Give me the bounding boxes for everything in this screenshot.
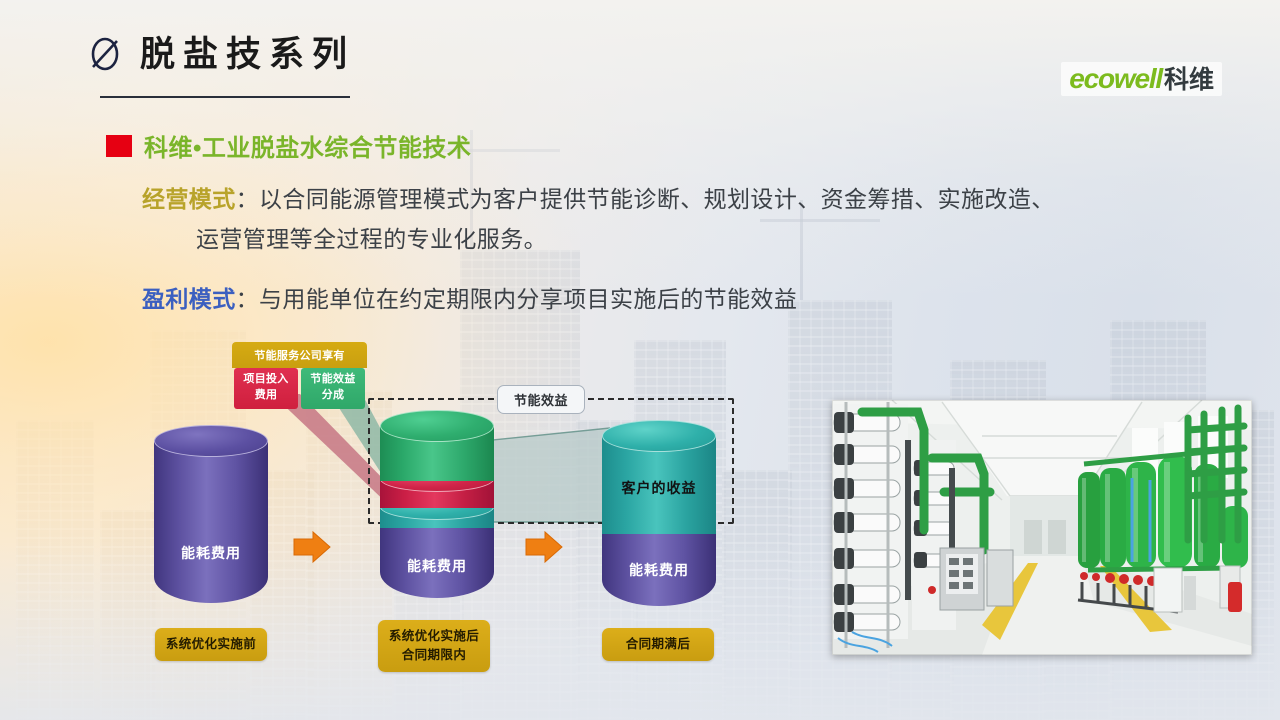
caption-after: 合同期满后 xyxy=(602,628,714,661)
cylinder-during: 能耗费用 xyxy=(380,410,494,618)
ecowell-logo: ecowell 科维 xyxy=(1061,62,1222,96)
arrow-right-icon-1 xyxy=(292,530,332,564)
legend-boxes: 项目投入 费用 节能效益 分成 xyxy=(232,368,367,411)
cylinder-after: 客户的收益 能耗费用 xyxy=(602,418,716,618)
paragraph-2-key: 盈利模式 xyxy=(142,286,236,312)
cylinder-during-label: 能耗费用 xyxy=(380,556,494,576)
red-square-bullet-icon xyxy=(106,135,132,157)
paragraph-1-key: 经营模式 xyxy=(142,186,236,212)
paragraph-2-line1: 与用能单位在约定期限内分享项目实施后的节能效益 xyxy=(259,286,797,312)
arrow-right-icon-2 xyxy=(524,530,564,564)
paragraph-1-colon: ： xyxy=(236,186,259,212)
plant-photo-illustration xyxy=(832,400,1252,655)
cylinder-after-top-label: 客户的收益 xyxy=(602,478,716,498)
paragraph-profit-model: 盈利模式：与用能单位在约定期限内分享项目实施后的节能效益 xyxy=(142,280,1232,320)
section-heading-label: 科维•工业脱盐水综合节能技术 xyxy=(144,128,471,163)
esco-savings-diagram: 节能服务公司享有 项目投入 费用 节能效益 分成 节能效益 能耗费用 xyxy=(0,330,830,690)
caption-during: 系统优化实施后 合同期限内 xyxy=(378,620,490,672)
paragraph-1-line1: 以合同能源管理模式为客户提供节能诊断、规划设计、资金筹措、实施改造、 xyxy=(259,186,1055,212)
cylinder-after-label: 能耗费用 xyxy=(602,560,716,580)
legend-box-savings-line1: 节能效益 xyxy=(301,372,365,388)
paragraph-2-colon: ： xyxy=(236,286,259,312)
legend-box-investment: 项目投入 费用 xyxy=(234,368,298,409)
legend-box-savings-line2: 分成 xyxy=(301,388,365,404)
caption-after-line1: 合同期满后 xyxy=(602,635,714,654)
caption-before-line1: 系统优化实施前 xyxy=(155,635,267,654)
paragraph-business-model: 经营模式：以合同能源管理模式为客户提供节能诊断、规划设计、资金筹措、实施改造、 … xyxy=(142,180,1232,259)
legend-box-investment-line1: 项目投入 xyxy=(234,372,298,388)
slide-root: 脱盐技系列 ecowell 科维 科维•工业脱盐水综合节能技术 经营模式：以合同… xyxy=(0,0,1280,720)
savings-chip-label: 节能效益 xyxy=(497,385,585,414)
caption-before: 系统优化实施前 xyxy=(155,628,267,661)
page-title: 脱盐技系列 xyxy=(140,37,355,72)
slide-header: 脱盐技系列 ecowell 科维 xyxy=(0,0,1280,120)
paragraph-1-line2: 运营管理等全过程的专业化服务。 xyxy=(196,220,1232,260)
cylinder-before: 能耗费用 xyxy=(154,425,268,618)
section-heading: 科维•工业脱盐水综合节能技术 xyxy=(106,128,471,163)
logo-chinese-text: 科维 xyxy=(1164,68,1214,93)
plant-photo xyxy=(832,400,1252,655)
legend-box-savings-share: 节能效益 分成 xyxy=(301,368,365,409)
logo-brand-text: ecowell xyxy=(1069,65,1162,93)
title-row: 脱盐技系列 xyxy=(88,34,355,74)
legend-header-label: 节能服务公司享有 xyxy=(232,342,367,368)
legend-box-investment-line2: 费用 xyxy=(234,388,298,404)
caption-during-line1: 系统优化实施后 xyxy=(378,627,490,646)
legend-esco-share: 节能服务公司享有 项目投入 费用 节能效益 分成 xyxy=(232,342,367,411)
diameter-symbol-icon xyxy=(88,34,122,74)
caption-during-line2: 合同期限内 xyxy=(378,646,490,665)
title-underline xyxy=(100,96,350,98)
cylinder-before-label: 能耗费用 xyxy=(154,543,268,563)
